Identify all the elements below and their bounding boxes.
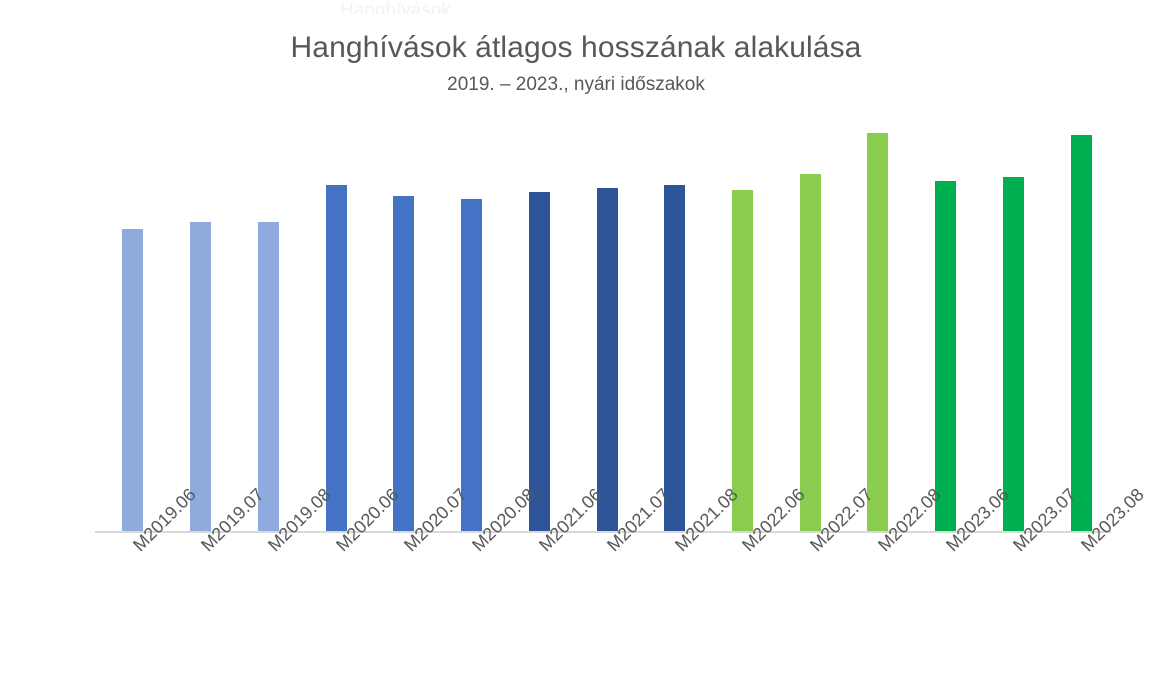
plot-area	[95, 120, 1111, 532]
bar-M2020.08	[461, 199, 482, 532]
bar-M2020.07	[393, 196, 414, 532]
bar-M2023.06	[935, 181, 956, 532]
bar-M2021.06	[529, 192, 550, 532]
x-axis-tick-labels: M2019.06M2019.07M2019.08M2020.06M2020.07…	[0, 531, 1152, 682]
bar-M2019.06	[122, 229, 143, 532]
bar-M2022.06	[732, 190, 753, 532]
bar-M2019.08	[258, 222, 279, 532]
bar-M2023.07	[1003, 177, 1024, 532]
bar-M2021.07	[597, 188, 618, 532]
chart-title-block: Hanghívások átlagos hosszának alakulása …	[0, 28, 1152, 100]
bar-M2022.07	[800, 174, 821, 532]
clipped-header-artifact: Hanghívások	[340, 0, 610, 14]
bar-M2021.08	[664, 185, 685, 532]
bar-chart: Hanghívások Hanghívások átlagos hosszána…	[0, 0, 1152, 682]
bar-M2023.08	[1071, 135, 1092, 532]
chart-subtitle: 2019. – 2023., nyári időszakok	[0, 70, 1152, 100]
bar-M2020.06	[326, 185, 347, 532]
bar-M2019.07	[190, 222, 211, 532]
chart-title: Hanghívások átlagos hosszának alakulása	[0, 28, 1152, 68]
bar-M2022.08	[867, 133, 888, 532]
